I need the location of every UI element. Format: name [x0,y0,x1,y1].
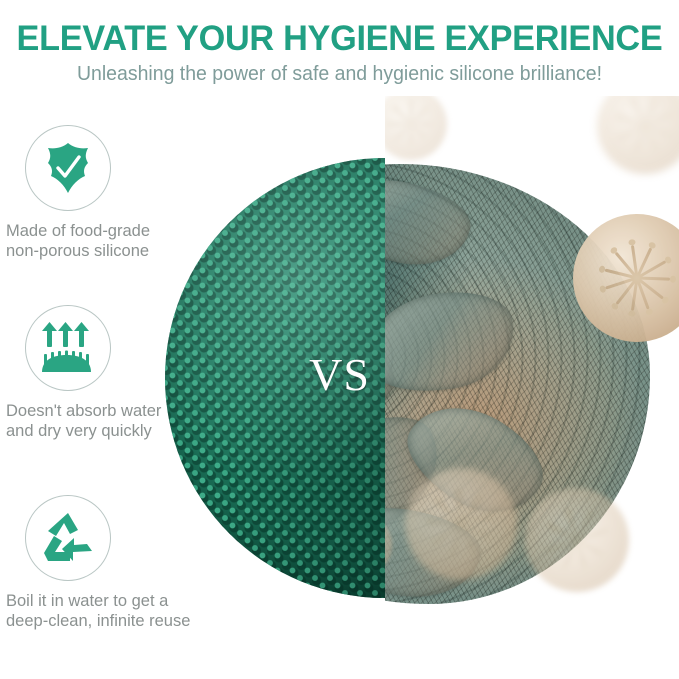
page-subtitle: Unleashing the power of safe and hygieni… [17,62,662,86]
feature-caption: Boil it in water to get a deep-clean, in… [0,591,200,631]
feature-icon-ring [25,305,111,391]
feature-item-quick-dry: Doesn't absorb water and dry very quickl… [0,305,200,441]
recycle-icon [40,511,96,565]
feature-icon-ring [25,495,111,581]
germ-particle [525,488,629,592]
product-infographic: ELEVATE YOUR HYGIENE EXPERIENCE Unleashi… [0,0,679,679]
shield-check-icon [42,141,94,195]
feature-caption: Made of food-grade non-porous silicone [0,221,200,261]
feature-item-reuse: Boil it in water to get a deep-clean, in… [0,495,200,631]
quick-dry-arrows-icon [39,322,97,374]
germ-particle [405,468,517,580]
feature-caption: Doesn't absorb water and dry very quickl… [0,401,200,441]
germ-particle [597,96,679,174]
loofah-half-image [385,96,679,679]
page-title: ELEVATE YOUR HYGIENE EXPERIENCE [12,20,667,57]
germ-particle [385,96,447,160]
feature-item-food-grade: Made of food-grade non-porous silicone [0,125,200,261]
feature-icon-ring [25,125,111,211]
